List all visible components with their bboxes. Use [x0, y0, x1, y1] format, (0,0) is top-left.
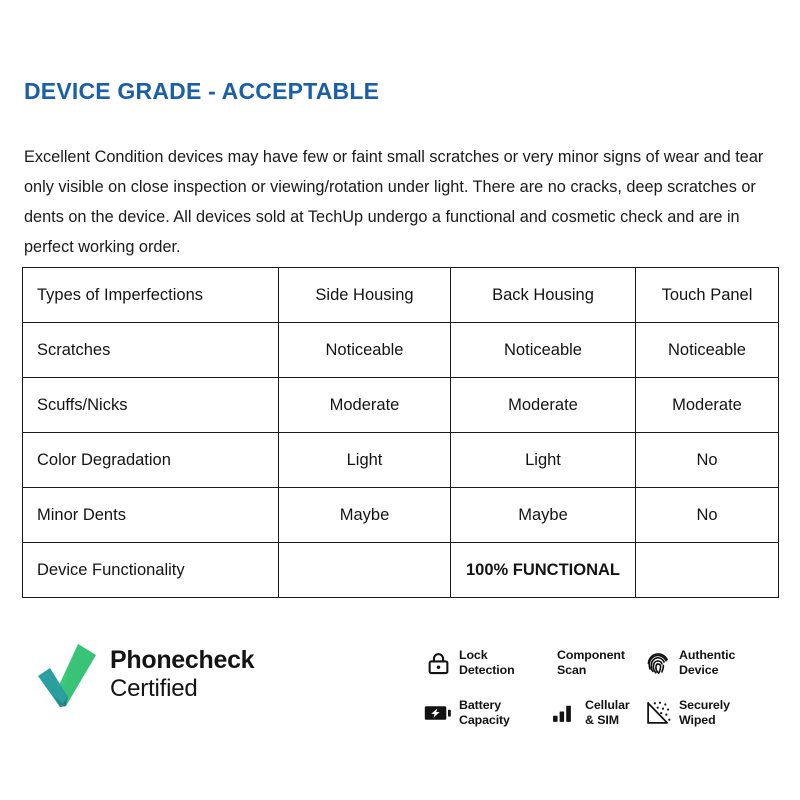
- cell-touch: [636, 543, 779, 598]
- fingerprint-icon: [644, 649, 672, 677]
- cell-touch: No: [636, 488, 779, 543]
- page-title: DEVICE GRADE - ACCEPTABLE: [24, 78, 379, 105]
- grade-description: Excellent Condition devices may have few…: [24, 142, 776, 262]
- cell-touch: Moderate: [636, 378, 779, 433]
- badge-label: Lock Detection: [459, 648, 515, 677]
- badge-component-scan: Component Scan: [550, 648, 644, 677]
- badge-label: Cellular & SIM: [585, 698, 630, 727]
- badge-label: Authentic Device: [679, 648, 735, 677]
- imperfections-table: Types of Imperfections Side Housing Back…: [22, 267, 779, 598]
- column-header-touch: Touch Panel: [636, 268, 779, 323]
- badge-lock-detection: Lock Detection: [424, 648, 550, 677]
- column-header-back: Back Housing: [451, 268, 636, 323]
- badge-battery-capacity: Battery Capacity: [424, 698, 550, 727]
- cell-side: Moderate: [279, 378, 451, 433]
- checkmark-icon: [36, 638, 98, 710]
- cell-back: Light: [451, 433, 636, 488]
- cell-back: Moderate: [451, 378, 636, 433]
- lock-icon: [424, 649, 452, 677]
- battery-icon: [424, 699, 452, 727]
- device-grade-card: DEVICE GRADE - ACCEPTABLE Excellent Cond…: [0, 0, 800, 800]
- cell-side: Light: [279, 433, 451, 488]
- badge-securely-wiped: Securely Wiped: [644, 698, 784, 727]
- row-label: Device Functionality: [23, 543, 279, 598]
- status-badge-functional: 100% FUNCTIONAL: [451, 543, 636, 598]
- column-header-types: Types of Imperfections: [23, 268, 279, 323]
- feature-badge-grid: Lock Detection Component Scan: [424, 638, 784, 738]
- table-row: Scuffs/Nicks Moderate Moderate Moderate: [23, 378, 779, 433]
- cell-side: [279, 543, 451, 598]
- cell-back: Maybe: [451, 488, 636, 543]
- row-label: Scratches: [23, 323, 279, 378]
- table-row-functionality: Device Functionality 100% FUNCTIONAL: [23, 543, 779, 598]
- badge-label: Securely Wiped: [679, 698, 730, 727]
- table-row: Minor Dents Maybe Maybe No: [23, 488, 779, 543]
- table-header-row: Types of Imperfections Side Housing Back…: [23, 268, 779, 323]
- row-label: Minor Dents: [23, 488, 279, 543]
- data-wipe-icon: [644, 699, 672, 727]
- cell-touch: No: [636, 433, 779, 488]
- logo-wordmark: Phonecheck Certified: [110, 646, 254, 702]
- badge-cellular-sim: Cellular & SIM: [550, 698, 644, 727]
- table-row: Scratches Noticeable Noticeable Noticeab…: [23, 323, 779, 378]
- cell-side: Maybe: [279, 488, 451, 543]
- badge-authentic-device: Authentic Device: [644, 648, 784, 677]
- certification-footer: Phonecheck Certified Lock Detection Comp…: [0, 620, 800, 750]
- row-label: Color Degradation: [23, 433, 279, 488]
- badge-label: Component Scan: [557, 648, 625, 677]
- signal-bars-icon: [550, 699, 578, 727]
- logo-line-2: Certified: [110, 675, 254, 702]
- cell-touch: Noticeable: [636, 323, 779, 378]
- cell-side: Noticeable: [279, 323, 451, 378]
- logo-line-1: Phonecheck: [110, 646, 254, 675]
- cell-back: Noticeable: [451, 323, 636, 378]
- phonecheck-certified-logo: Phonecheck Certified: [36, 638, 254, 710]
- row-label: Scuffs/Nicks: [23, 378, 279, 433]
- column-header-side: Side Housing: [279, 268, 451, 323]
- table-row: Color Degradation Light Light No: [23, 433, 779, 488]
- badge-label: Battery Capacity: [459, 698, 510, 727]
